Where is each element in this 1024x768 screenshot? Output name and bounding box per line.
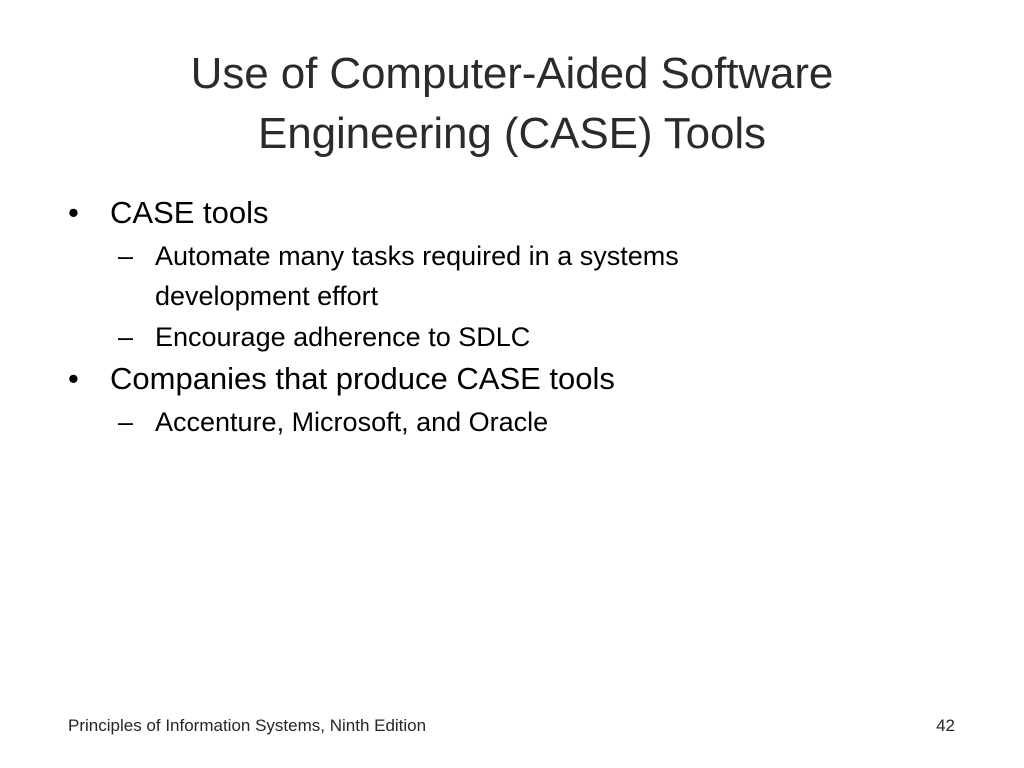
bullet-item-5: – Accenture, Microsoft, and Oracle xyxy=(0,402,1024,442)
round-bullet-icon: • xyxy=(68,192,98,234)
footer-page-number: 42 xyxy=(936,714,955,738)
round-bullet-icon: • xyxy=(68,358,98,400)
bullet-text-4: Companies that produce CASE tools xyxy=(110,358,884,400)
slide-title-line-2: Engineering (CASE) Tools xyxy=(60,104,964,164)
slide-title-line-1: Use of Computer-Aided Software xyxy=(60,44,964,104)
slide-body: • CASE tools – Automate many tasks requi… xyxy=(0,192,1024,443)
bullet-item-1: • CASE tools xyxy=(0,192,1024,234)
bullet-item-3: – Encourage adherence to SDLC xyxy=(0,317,1024,357)
bullet-text-1: CASE tools xyxy=(110,192,884,234)
bullet-item-2: – Automate many tasks required in a syst… xyxy=(0,236,1024,316)
bullet-text-3: Encourage adherence to SDLC xyxy=(155,317,819,357)
bullet-text-5: Accenture, Microsoft, and Oracle xyxy=(155,402,819,442)
bullet-text-2: Automate many tasks required in a system… xyxy=(155,236,819,316)
en-dash-bullet-icon: – xyxy=(118,236,150,276)
bullet-item-4: • Companies that produce CASE tools xyxy=(0,358,1024,400)
slide-canvas: Use of Computer-Aided Software Engineeri… xyxy=(0,0,1024,768)
slide-title: Use of Computer-Aided Software Engineeri… xyxy=(60,44,964,164)
en-dash-bullet-icon: – xyxy=(118,402,150,442)
en-dash-bullet-icon: – xyxy=(118,317,150,357)
footer-source-text: Principles of Information Systems, Ninth… xyxy=(68,714,426,738)
